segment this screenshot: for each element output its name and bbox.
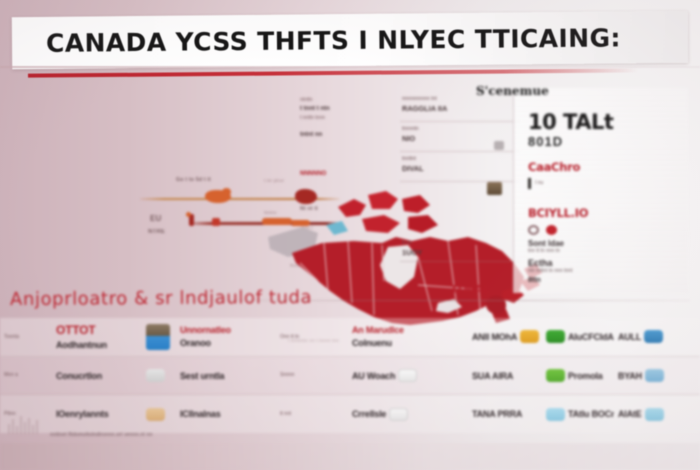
bar-glyph-icon xyxy=(528,178,531,189)
badge-icon xyxy=(398,369,417,382)
cell-label[interactable]: Toonta xyxy=(0,318,52,356)
cell-tertiary[interactable]: Snnnn xyxy=(276,357,348,395)
badge-icon xyxy=(546,369,565,382)
map-marker-icon xyxy=(486,296,506,314)
middle-list-column: nnnnnnnnnn tnt RAGGLIA IIA tnnnntn NIO t… xyxy=(400,92,520,292)
section-note: ntn tnttnt tn nnn tnnt xyxy=(528,268,572,275)
left-list-item: tntnt nn xyxy=(300,131,395,140)
cell-title: Conucrtlon xyxy=(56,371,102,381)
list-item-sub: tnnnntn xyxy=(402,126,419,132)
cell-brand[interactable]: AU Woach xyxy=(348,357,468,395)
cell-badge-group[interactable]: ANll MOhA xyxy=(468,318,542,356)
panel-title: S'cenemue xyxy=(476,84,549,98)
stat-value-text: 10 TALt xyxy=(528,110,613,134)
stats-panel: S'cenemue 10 TALt 801D CaaChro I nu BCIY… xyxy=(513,88,688,293)
list-item-label: DIVAL xyxy=(402,164,424,173)
cell-label-text: Pttnn xyxy=(4,411,16,418)
bottom-strip xyxy=(0,443,700,470)
cell-subtitle: Oranoo xyxy=(180,338,211,348)
cell-title: OTTOT xyxy=(56,323,95,337)
section-divider xyxy=(190,300,690,301)
badge-icon xyxy=(546,408,565,421)
cell-label-text: Snnnn xyxy=(280,372,294,379)
blur-layer: Go t to 5d t it t inr plcer EU NTRE Nntn… xyxy=(0,0,700,470)
section-value: 8ttn xyxy=(528,277,572,284)
flow-label-left: EU xyxy=(150,216,162,222)
badge-icon xyxy=(146,408,165,421)
cell-icon[interactable] xyxy=(142,357,176,395)
panel-section-1[interactable]: CaaChro I nu xyxy=(528,160,580,189)
badge-icon xyxy=(645,369,664,382)
cell-title: Promola xyxy=(568,371,603,381)
cell-title: BYAH xyxy=(618,371,642,381)
list-item-sub: tt nn xyxy=(402,240,412,246)
list-item[interactable]: tt nn 1UOY xyxy=(400,182,520,262)
cell-badge-group[interactable]: TANA PRRA xyxy=(468,395,542,433)
stat-value: 10 TALt xyxy=(528,110,613,134)
cell-title: ICllnalnas xyxy=(180,409,221,419)
cell-badge-blue[interactable]: BYAH xyxy=(614,357,700,395)
list-item-sub: tnnttnt xyxy=(402,156,416,162)
flow-label-top-small: t inr plcer xyxy=(264,178,284,184)
card-grid: Toonta OTTOT Aodhantnun Unnornatleo Oran… xyxy=(0,318,700,433)
cell-title: AIAtE xyxy=(618,409,642,419)
badge-icon xyxy=(146,369,165,382)
section-heading: BCIYLL.IO xyxy=(528,206,588,220)
table-row[interactable]: Mon a Conucrtlon Sest urntla Snnnn AU Wo… xyxy=(0,357,700,396)
cell-title: TANA PRRA xyxy=(472,409,522,419)
cell-tertiary[interactable]: tt nnt xyxy=(276,395,348,433)
badge-icon xyxy=(389,408,408,421)
cell-title: SUA AIRA xyxy=(472,371,513,381)
panel-section-3[interactable]: Ectha ntn tnttnt tn nnn tnnt 8ttn xyxy=(528,258,572,284)
cell-title: AULL xyxy=(618,332,641,342)
section-line: Sont ldae xyxy=(528,239,588,248)
cell-secondary[interactable]: ICllnalnas xyxy=(176,395,276,433)
cell-title: TAtlu BOCnA xyxy=(568,409,614,419)
cell-title: ANll MOhA xyxy=(472,332,517,342)
thumbnail-icon-small xyxy=(494,141,504,150)
section-heading: CaaChro xyxy=(528,160,580,174)
flow-label-left-sub: NTRE xyxy=(148,229,165,235)
badge-icon xyxy=(520,330,539,343)
cell-badge-blue[interactable]: AULL xyxy=(614,318,700,356)
cell-label-text: tt nnt xyxy=(280,411,291,418)
cell-badge-blue[interactable]: AIAtE xyxy=(614,395,700,433)
thumbnail-icon xyxy=(487,182,502,195)
circle-outline-icon xyxy=(528,225,539,235)
cell-primary[interactable]: IOenrylannts xyxy=(52,395,142,433)
badge-icon xyxy=(645,408,664,421)
cell-primary[interactable]: OTTOT Aodhantnun xyxy=(52,318,142,356)
cell-icon[interactable] xyxy=(142,318,176,356)
list-item-label: NIO xyxy=(402,134,415,143)
flow-node-square xyxy=(212,218,220,226)
list-item-label: RAGGLIA IIA xyxy=(402,104,447,113)
panel-section-2[interactable]: BCIYLL.IO Sont ldae tnn tt tn nnn tn xyxy=(528,206,588,255)
cell-title: Sest urntla xyxy=(180,371,224,381)
flow-label-top: Go t to 5d t it xyxy=(176,177,211,183)
cell-subtitle: Aodhantnun xyxy=(56,340,107,350)
cell-brand[interactable]: An Marudlce Colnuenu xyxy=(348,318,468,356)
cell-secondary[interactable]: Sest urntla xyxy=(176,357,276,395)
cell-secondary[interactable]: Unnornatleo Oranoo xyxy=(176,318,276,356)
stat-subvalue: 801D xyxy=(528,134,613,149)
section-heading-bottom: Anjoprloatro & sr lndjaulof tuda xyxy=(10,287,312,310)
cell-label-text: Toonta xyxy=(4,334,19,341)
cell-icon[interactable] xyxy=(142,395,176,433)
cell-title: IOenrylannts xyxy=(56,409,109,419)
tool-icon xyxy=(146,324,170,350)
left-list-item: ntnttn xyxy=(300,96,395,105)
stat-block: 10 TALt 801D xyxy=(528,110,613,149)
left-list-item: NNNNNO xyxy=(300,170,395,179)
cell-label-text: Mon a xyxy=(4,372,18,379)
cell-badge-green[interactable]: TAtlu BOCnA xyxy=(542,395,614,433)
cell-tertiary[interactable]: Onn tt tn xyxy=(276,318,348,356)
cell-badge-green[interactable]: AIuCFCIdA xyxy=(542,318,614,356)
cell-label[interactable]: Mon a xyxy=(0,357,52,395)
badge-icon xyxy=(546,330,565,343)
list-item-label: 1UOY xyxy=(402,248,422,257)
flow-node-dot-b xyxy=(186,212,191,217)
section-note: tnn tt tn nnn tn xyxy=(528,248,588,255)
cell-subtitle: Colnuenu xyxy=(352,338,392,348)
circle-filled-icon xyxy=(546,225,557,235)
badge-icon xyxy=(644,330,663,343)
left-list-item: t tnnt t ntn xyxy=(300,105,395,114)
footnote: nnttnet fltdomoltolndtronnn.ort vennn.nt… xyxy=(50,432,153,438)
cell-brand[interactable]: Crrellsle xyxy=(348,395,468,433)
left-annotation-list: ntnttn t tnnt t ntn t nnttn tnnn tntnt n… xyxy=(300,96,395,179)
cell-badge-green[interactable]: Promola xyxy=(542,357,614,395)
cell-title: An Marudlce xyxy=(352,325,404,335)
cell-title: Crrellsle xyxy=(352,409,386,419)
flow-node-dot-a xyxy=(222,188,231,196)
cell-badge-group[interactable]: SUA AIRA xyxy=(468,357,542,395)
table-row[interactable]: Pttnn IOenrylannts ICllnalnas tt nnt Crr… xyxy=(0,395,700,433)
list-item[interactable]: tnnttnt DIVAL xyxy=(400,152,520,182)
table-row[interactable]: Toonta OTTOT Aodhantnun Unnornatleo Oran… xyxy=(0,318,700,357)
section-heading: Ectha xyxy=(528,258,572,268)
map-marker-label: ITMAL xyxy=(452,283,490,296)
cell-title: AIuCFCIdA xyxy=(568,332,614,342)
cell-label-text: Onn tt tn xyxy=(280,334,299,341)
left-list-item: t nnttn tnnn xyxy=(300,114,395,123)
cell-title: AU Woach xyxy=(352,371,395,381)
cell-primary[interactable]: Conucrtlon xyxy=(52,357,142,395)
list-item-sub: nnnnnnnnnn tnt xyxy=(402,96,437,102)
cell-title: Unnornatleo xyxy=(180,325,231,335)
section-note: I nu xyxy=(535,180,543,187)
